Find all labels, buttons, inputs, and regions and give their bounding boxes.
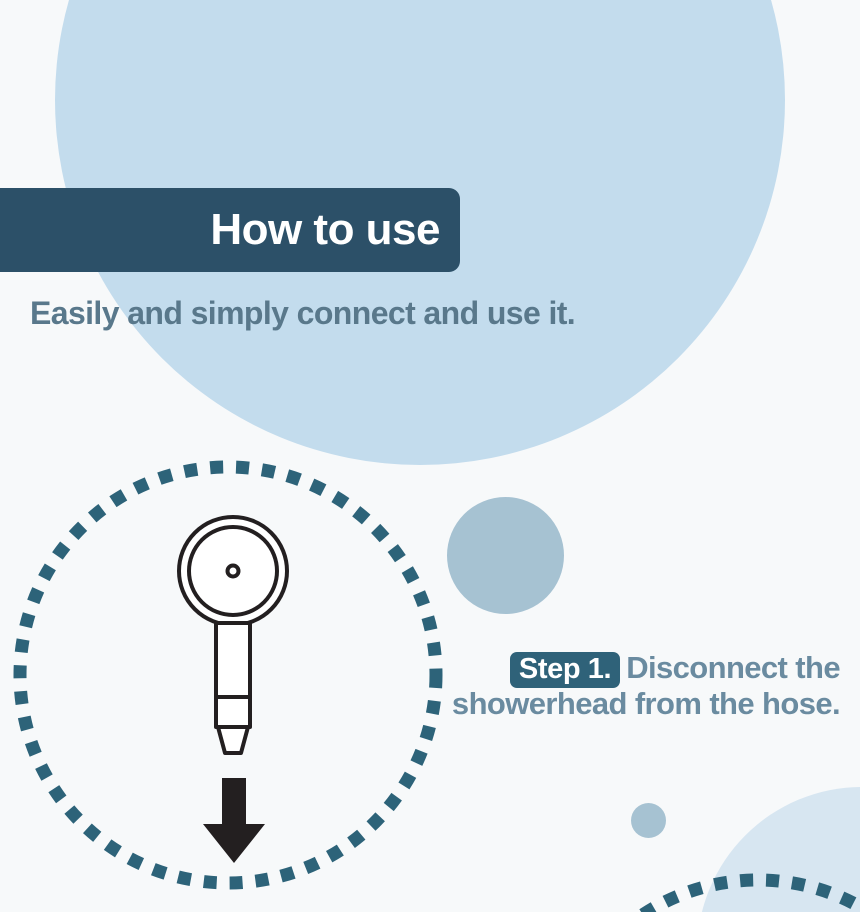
step-1-badge: Step 1. [510, 652, 620, 688]
dashed-ring-bottom [540, 868, 860, 912]
step-1-text-wrapper: Step 1.Disconnect the showerhead from th… [452, 650, 840, 721]
header-banner: How to use [0, 188, 460, 272]
showerhead-handle-tip [218, 727, 248, 753]
showerhead-center-hole [228, 566, 239, 577]
how-to-use-panel: How to use Easily and simply connect and… [0, 0, 860, 912]
showerhead-handle-upper [216, 623, 250, 697]
decor-circle-small [631, 803, 666, 838]
arrow-down-icon [192, 778, 276, 864]
showerhead-handle-band [216, 697, 250, 727]
step-1-block: Step 1.Disconnect the showerhead from th… [440, 652, 840, 721]
page-subtitle: Easily and simply connect and use it. [30, 294, 575, 332]
page-title: How to use [210, 208, 440, 252]
showerhead-illustration [170, 505, 300, 755]
decor-circle-mid [447, 497, 564, 614]
